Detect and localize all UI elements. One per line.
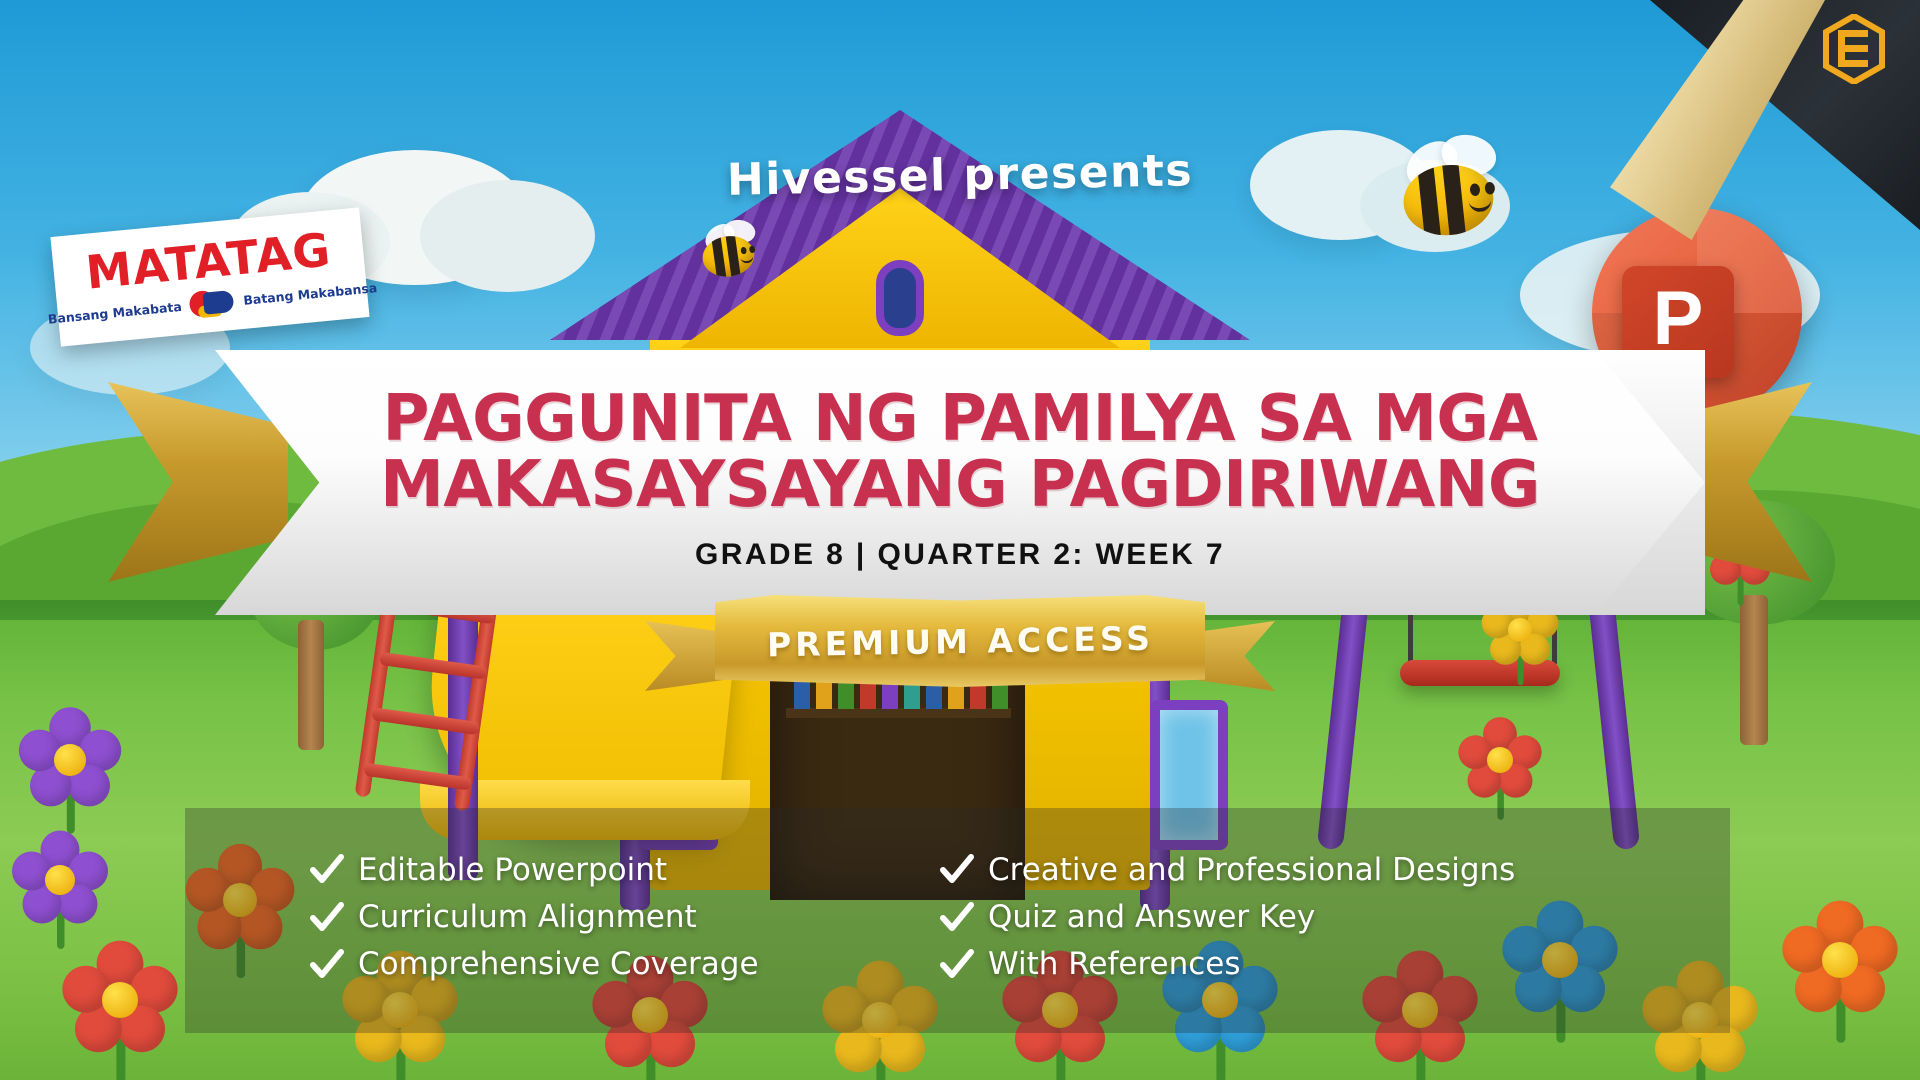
premium-access-ribbon: PREMIUM ACCESS [645,595,1275,715]
list-item: Quiz and Answer Key [940,899,1445,936]
list-item: Curriculum Alignment [310,899,745,936]
feature-label: Quiz and Answer Key [988,899,1315,936]
check-icon [940,901,974,935]
ladder-rung [363,763,472,791]
check-icon [310,948,344,982]
ribbon-band: PREMIUM ACCESS [715,595,1205,687]
gable-window [876,260,924,336]
ladder-rung [379,652,488,680]
feature-label: Comprehensive Coverage [358,946,759,983]
list-item: Creative and Professional Designs [940,852,1445,889]
powerpoint-letter: P [1653,281,1704,357]
tree-trunk [298,620,324,750]
list-item: Editable Powerpoint [310,852,745,889]
title-line-2: MAKASAYSAYANG PAGDIRIWANG [380,453,1540,518]
list-item: Comprehensive Coverage [310,946,745,983]
poster-canvas: Hivessel presents MATATAG Bansang Makaba… [0,0,1920,1080]
matatag-tagline-left: Bansang Makabata [47,298,182,326]
feature-label: With References [988,946,1241,983]
page-title: PAGGUNITA NG PAMILYA SA MGA MAKASAYSAYAN… [380,387,1540,518]
hexagon-hive-logo-icon [1822,14,1886,84]
banner-tail-left [108,382,288,582]
clasped-hands-icon [188,286,237,320]
banner-body: PAGGUNITA NG PAMILYA SA MGA MAKASAYSAYAN… [215,350,1705,615]
check-icon [310,901,344,935]
check-icon [940,853,974,887]
matatag-tagline-right: Batang Makabansa [243,280,378,308]
title-line-1: PAGGUNITA NG PAMILYA SA MGA [380,387,1540,452]
grade-quarter-week-subtitle: GRADE 8 | QUARTER 2: WEEK 7 [695,538,1225,572]
feature-label: Creative and Professional Designs [988,852,1515,889]
ladder-rung [371,707,480,735]
feature-label: Editable Powerpoint [358,852,667,889]
title-banner: PAGGUNITA NG PAMILYA SA MGA MAKASAYSAYAN… [0,350,1920,620]
feature-list-panel: Editable Powerpoint Curriculum Alignment… [185,808,1730,1033]
premium-access-label: PREMIUM ACCESS [766,618,1154,664]
feature-column-right: Creative and Professional Designs Quiz a… [745,852,1445,984]
feature-column-left: Editable Powerpoint Curriculum Alignment… [185,852,745,984]
list-item: With References [940,946,1445,983]
check-icon [310,853,344,887]
feature-label: Curriculum Alignment [358,899,697,936]
check-icon [940,948,974,982]
